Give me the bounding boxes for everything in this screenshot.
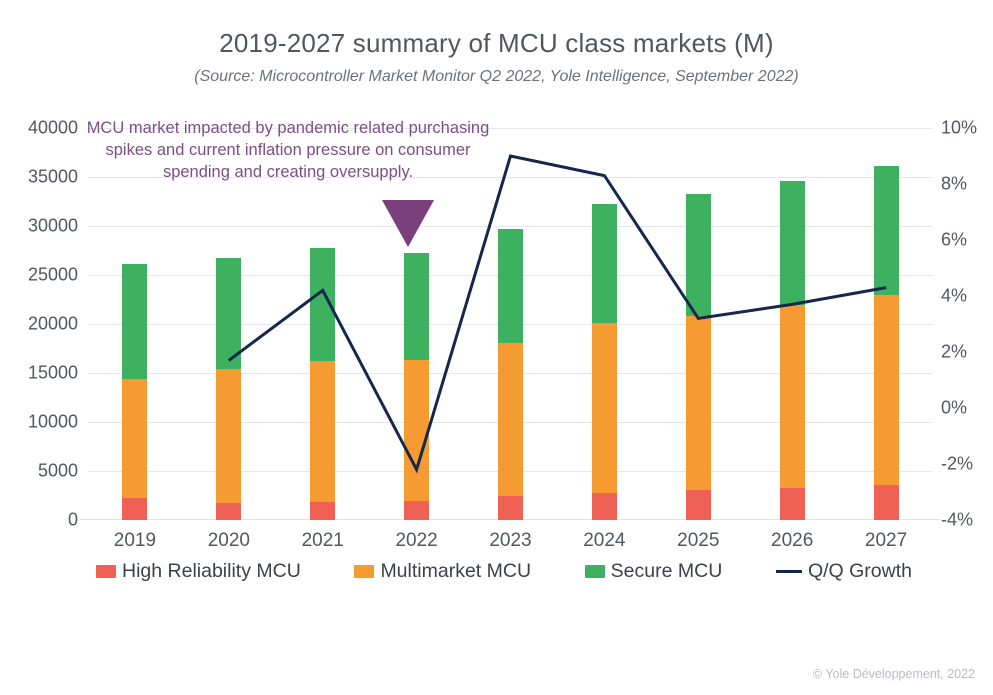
- chart-annotation: MCU market impacted by pandemic related …: [78, 118, 498, 184]
- y2-axis-tick-label: -4%: [941, 510, 993, 531]
- y2-axis-tick-label: 6%: [941, 230, 993, 251]
- legend-item-label: High Reliability MCU: [122, 560, 301, 583]
- x-axis-tick-label: 2024: [583, 530, 625, 552]
- growth-line-series: [88, 128, 933, 520]
- x-axis-tick-label: 2020: [208, 530, 250, 552]
- y-axis-tick-label: 5000: [4, 461, 78, 482]
- y-axis-tick-label: 15000: [4, 363, 78, 384]
- x-axis-tick-label: 2021: [302, 530, 344, 552]
- legend-item-label: Q/Q Growth: [808, 560, 912, 583]
- y-axis-tick-label: 35000: [4, 167, 78, 188]
- legend-color-swatch-icon: [585, 565, 605, 578]
- chart-figure: 2019-2027 summary of MCU class markets (…: [0, 0, 993, 695]
- y-axis-tick-label: 25000: [4, 265, 78, 286]
- legend-item-label: Multimarket MCU: [380, 560, 531, 583]
- y2-axis-tick-label: 4%: [941, 286, 993, 307]
- y-axis-tick-label: 30000: [4, 216, 78, 237]
- plot-area: 0500010000150002000025000300003500040000…: [88, 128, 933, 520]
- x-axis-tick-label: 2022: [395, 530, 437, 552]
- y2-axis-tick-label: 10%: [941, 118, 993, 139]
- y2-axis-tick-label: 0%: [941, 398, 993, 419]
- legend-item-label: Secure MCU: [611, 560, 723, 583]
- legend-item[interactable]: High Reliability MCU: [96, 560, 301, 583]
- legend-item[interactable]: Secure MCU: [585, 560, 723, 583]
- legend-color-swatch-icon: [96, 565, 116, 578]
- down-triangle-icon: [382, 200, 434, 247]
- legend-line-swatch-icon: [776, 570, 802, 573]
- copyright-notice: © Yole Développement, 2022: [813, 667, 975, 681]
- chart-title: 2019-2027 summary of MCU class markets (…: [0, 28, 993, 59]
- y-axis-tick-label: 20000: [4, 314, 78, 335]
- x-axis-tick-label: 2027: [865, 530, 907, 552]
- y-axis-tick-label: 40000: [4, 118, 78, 139]
- y2-axis-tick-label: 2%: [941, 342, 993, 363]
- y-axis-tick-label: 10000: [4, 412, 78, 433]
- chart-subtitle: (Source: Microcontroller Market Monitor …: [0, 68, 993, 86]
- x-axis-tick-label: 2025: [677, 530, 719, 552]
- x-axis-tick-label: 2026: [771, 530, 813, 552]
- chart-legend: High Reliability MCUMultimarket MCUSecur…: [80, 560, 920, 583]
- y2-axis-tick-label: 8%: [941, 174, 993, 195]
- x-axis-tick-label: 2023: [489, 530, 531, 552]
- x-axis-tick-label: 2019: [114, 530, 156, 552]
- legend-color-swatch-icon: [354, 565, 374, 578]
- y-axis-tick-label: 0: [4, 510, 78, 531]
- legend-item[interactable]: Q/Q Growth: [776, 560, 912, 583]
- legend-item[interactable]: Multimarket MCU: [354, 560, 531, 583]
- y2-axis-tick-label: -2%: [941, 454, 993, 475]
